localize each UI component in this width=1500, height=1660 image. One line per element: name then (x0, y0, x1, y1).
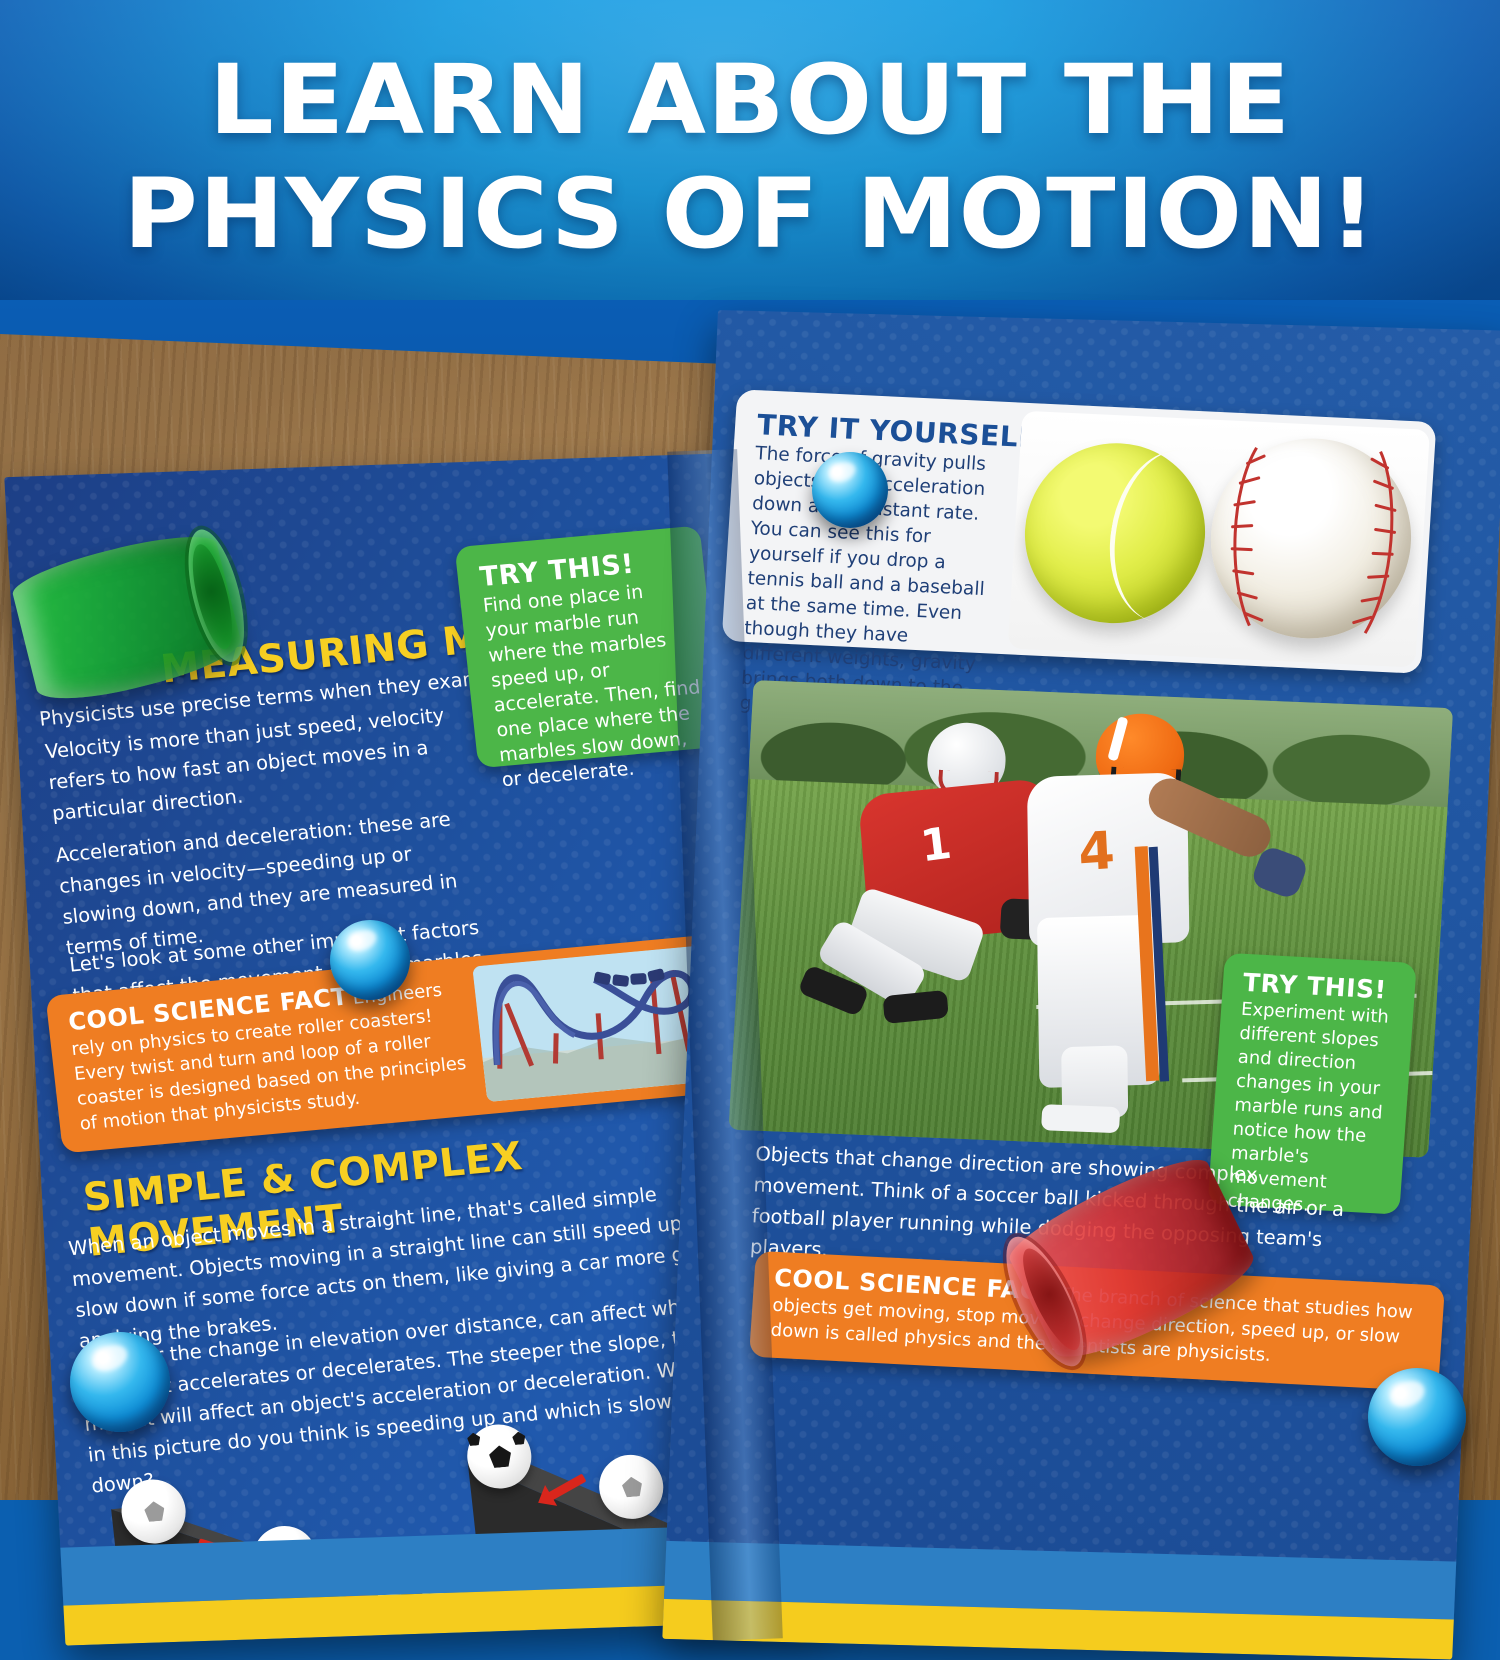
open-book: MEASURING MOTION Physicists use precise … (0, 300, 1500, 1500)
banner-title: LEARN ABOUT THE PHYSICS OF MOTION! (0, 48, 1500, 266)
right-try-it-yourself-card: TRY IT YOURSELF The force of gravity pul… (722, 389, 1437, 674)
blue-glass-marble-bottom-left (70, 1332, 170, 1432)
pentagon-patch (144, 1501, 166, 1523)
blue-glass-marble-bottom-right (1368, 1368, 1466, 1466)
scene-root: LEARN ABOUT THE PHYSICS OF MOTION! MEASU… (0, 0, 1500, 1500)
white-cleat (1041, 1104, 1120, 1133)
tennis-ball-and-baseball-photo (1008, 411, 1430, 668)
pentagon-patch (621, 1476, 643, 1498)
black-cleat (883, 990, 949, 1024)
baseball (1205, 434, 1417, 643)
blue-glass-marble-left-page (330, 920, 410, 1000)
left-cool-fact-text-wrap: COOL SCIENCE FACT Engineers rely on phys… (67, 971, 479, 1136)
banner-title-line2: PHYSICS OF MOTION! (0, 162, 1500, 266)
tennis-ball (1019, 439, 1210, 627)
pentagon-patch-dark (488, 1444, 512, 1468)
blue-glass-marble-right-page (812, 452, 888, 528)
jersey-number-1: 1 (918, 818, 954, 873)
book-right-page: TRY IT YOURSELF The force of gravity pul… (662, 310, 1500, 1660)
header-banner: LEARN ABOUT THE PHYSICS OF MOTION! (0, 0, 1500, 330)
baseball-seams-svg (1205, 434, 1417, 643)
jersey-number-4: 4 (1077, 821, 1116, 883)
banner-title-line1: LEARN ABOUT THE (0, 48, 1500, 152)
